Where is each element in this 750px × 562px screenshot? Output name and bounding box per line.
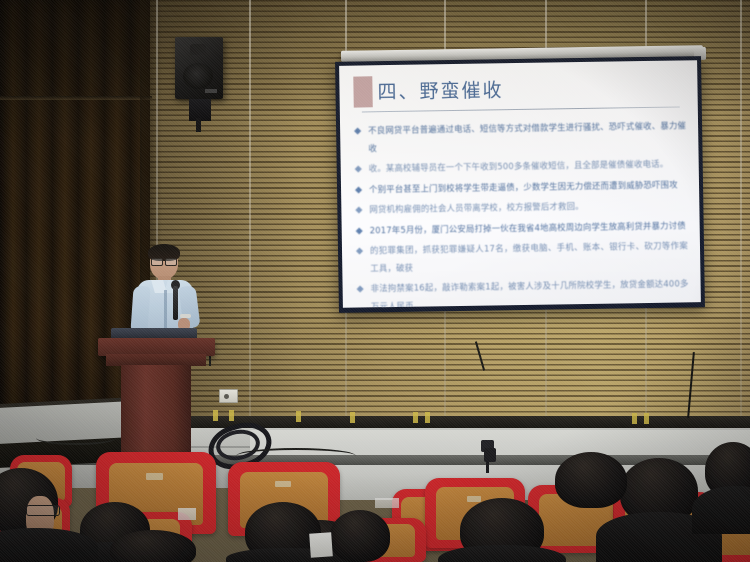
podium-column [121, 365, 191, 460]
title-accent-block [353, 76, 372, 107]
tripod-head-icon [484, 448, 496, 462]
lecture-hall-photo: 四、野蛮催收 不良网贷平台普遍通过电话、短信等方式对借款学生进行骚扰、恐吓式催收… [0, 0, 750, 562]
slide-bullet-list: 不良网贷平台普遍通过电话、短信等方式对借款学生进行骚扰、恐吓式催收、暴力催收 收… [352, 117, 689, 307]
slide-bullet: 不良网贷平台普遍通过电话、短信等方式对借款学生进行骚扰、恐吓式催收、暴力催收 [352, 117, 687, 157]
projection-screen: 四、野蛮催收 不良网贷平台普遍通过电话、短信等方式对借款学生进行骚扰、恐吓式催收… [335, 56, 705, 313]
floor-marker [425, 412, 430, 423]
glasses-icon [151, 258, 177, 264]
floor-marker [213, 410, 218, 421]
floor-marker [644, 413, 649, 424]
slide-bullet-cont: 的犯罪集团，抓获犯罪嫌疑人17名，缴获电脑、手机、账本、银行卡、砍刀等作案工具，… [354, 237, 689, 277]
floor-marker [229, 410, 234, 421]
title-divider [362, 106, 680, 112]
floor-cable [36, 431, 116, 445]
slide-bullet: 个别平台甚至上门到校将学生带走逼债，少数学生因无力偿还而遭到威胁恐吓围攻 [353, 176, 687, 199]
wall-seam [740, 0, 742, 430]
handout-paper [375, 498, 399, 508]
handheld-mic-body [173, 286, 178, 320]
loudspeaker-icon [175, 37, 223, 99]
speaker-mount-stem [196, 118, 201, 132]
slide-bullet: 2017年5月份，厦门公安局打掉一伙在我省4地高校周边向学生放高利贷并暴力讨债 [354, 217, 688, 240]
floor-marker [413, 412, 418, 423]
audience-head [555, 452, 627, 508]
audience-head [330, 510, 390, 562]
speaker-badge [205, 89, 217, 93]
floor-marker [350, 412, 355, 423]
curtain-rail [0, 96, 152, 100]
slide-title-row: 四、野蛮催收 [351, 70, 685, 109]
outlet-socket [224, 394, 229, 399]
slide-bullet-cont: 非法拘禁案16起，敲诈勒索案1起，被害人涉及十几所院校学生，放贷金额达400多万… [354, 275, 689, 307]
audience-head [110, 530, 196, 562]
floor-marker [296, 411, 301, 422]
presentation-slide: 四、野蛮催收 不良网贷平台普遍通过电话、短信等方式对借款学生进行骚扰、恐吓式催收… [339, 60, 701, 308]
speaker-cone [183, 63, 213, 89]
speaker-tweeter [190, 44, 206, 55]
floor-marker [632, 413, 637, 424]
presenter-arm-left [130, 285, 150, 333]
slide-title: 四、野蛮催收 [377, 75, 503, 104]
power-outlet-icon[interactable] [219, 389, 238, 403]
seat-number-tag [275, 481, 291, 487]
handout-paper [178, 508, 196, 520]
seat-number-tag [467, 496, 481, 502]
wall-seam [249, 0, 251, 430]
slide-bullet-cont: 网贷机构雇佣的社会人员带离学校，校方报警后才救回。 [353, 196, 687, 219]
seat-number-tag [146, 473, 163, 480]
slide-bullet-cont: 收。某高校辅导员在一个下午收到500多条催收短信，且全部是催债催收电话。 [353, 155, 687, 178]
screen-surface: 四、野蛮催收 不良网贷平台普遍通过电话、短信等方式对借款学生进行骚扰、恐吓式催收… [339, 60, 701, 308]
handout-paper [309, 532, 333, 557]
glasses-icon [26, 505, 60, 516]
